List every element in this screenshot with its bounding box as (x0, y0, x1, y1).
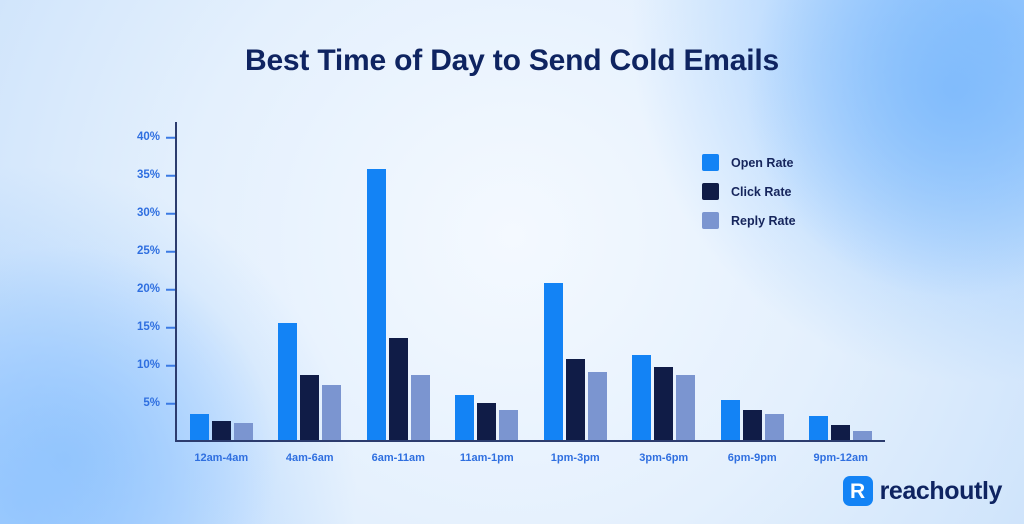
infographic-poster: Best Time of Day to Send Cold Emails 5%1… (0, 0, 1024, 524)
bar-group: 12am-4am (177, 122, 266, 440)
y-axis-tick: 30% (137, 208, 175, 220)
bar-reply-rate[interactable] (853, 431, 872, 440)
y-axis-tick-label: 20% (137, 284, 160, 296)
bar-click-rate[interactable] (300, 375, 319, 440)
bar-open-rate[interactable] (190, 414, 209, 440)
bar-group: 9pm-12am (797, 122, 886, 440)
y-axis-tick-label: 40% (137, 132, 160, 144)
x-axis-tick-label: 12am-4am (177, 452, 266, 464)
x-axis-tick-label: 6pm-9pm (708, 452, 797, 464)
bar-open-rate[interactable] (544, 283, 563, 440)
bar-open-rate[interactable] (632, 355, 651, 440)
x-axis-tick-label: 1pm-3pm (531, 452, 620, 464)
bar-reply-rate[interactable] (322, 385, 341, 440)
legend-item-open-rate[interactable]: Open Rate (702, 148, 796, 177)
chart-legend: Open RateClick RateReply Rate (702, 148, 796, 235)
x-axis-tick-label: 11am-1pm (443, 452, 532, 464)
bar-click-rate[interactable] (477, 403, 496, 440)
x-axis-tick-label: 3pm-6pm (620, 452, 709, 464)
y-axis-tick-label: 30% (137, 208, 160, 220)
bar-group: 1pm-3pm (531, 122, 620, 440)
y-axis-tick: 25% (137, 246, 175, 258)
y-axis-tick: 15% (137, 322, 175, 334)
brand-mark-icon: R (843, 476, 873, 506)
legend-label: Click Rate (731, 185, 791, 199)
bar-click-rate[interactable] (654, 367, 673, 440)
bar-reply-rate[interactable] (588, 372, 607, 440)
legend-label: Reply Rate (731, 214, 796, 228)
legend-item-click-rate[interactable]: Click Rate (702, 177, 796, 206)
legend-item-reply-rate[interactable]: Reply Rate (702, 206, 796, 235)
bar-reply-rate[interactable] (765, 414, 784, 440)
bar-click-rate[interactable] (831, 425, 850, 440)
bar-click-rate[interactable] (212, 421, 231, 440)
bar-group: 3pm-6pm (620, 122, 709, 440)
bar-click-rate[interactable] (743, 410, 762, 440)
brand-logo: R reachoutly (843, 476, 1002, 506)
y-axis-tick-mark (166, 136, 175, 138)
bar-reply-rate[interactable] (499, 410, 518, 440)
bar-open-rate[interactable] (809, 416, 828, 440)
bar-click-rate[interactable] (389, 338, 408, 440)
bar-open-rate[interactable] (278, 323, 297, 440)
bar-open-rate[interactable] (721, 400, 740, 440)
brand-name: reachoutly (880, 477, 1002, 506)
y-axis-tick-mark (166, 365, 175, 367)
x-axis-tick-label: 9pm-12am (797, 452, 886, 464)
bar-group: 6am-11am (354, 122, 443, 440)
bar-group: 4am-6am (266, 122, 355, 440)
y-axis-tick: 10% (137, 360, 175, 372)
y-axis-tick-mark (166, 403, 175, 405)
y-axis-tick-mark (166, 251, 175, 253)
y-axis-tick-label: 5% (143, 398, 160, 410)
bar-click-rate[interactable] (566, 359, 585, 440)
x-axis-line (175, 440, 885, 442)
y-axis-tick-mark (166, 327, 175, 329)
bar-reply-rate[interactable] (411, 375, 430, 440)
x-axis-tick-label: 6am-11am (354, 452, 443, 464)
y-axis-tick-mark (166, 212, 175, 214)
y-axis-tick: 5% (143, 398, 175, 410)
y-axis-tick-label: 15% (137, 322, 160, 334)
legend-swatch-icon (702, 154, 719, 171)
bar-open-rate[interactable] (455, 395, 474, 440)
bar-group: 11am-1pm (443, 122, 532, 440)
bar-reply-rate[interactable] (234, 423, 253, 440)
legend-label: Open Rate (731, 156, 794, 170)
y-axis-tick-label: 25% (137, 246, 160, 258)
legend-swatch-icon (702, 212, 719, 229)
y-axis-tick: 20% (137, 284, 175, 296)
y-axis-tick-label: 35% (137, 170, 160, 182)
y-axis-tick-mark (166, 174, 175, 176)
chart-title: Best Time of Day to Send Cold Emails (0, 44, 1024, 78)
legend-swatch-icon (702, 183, 719, 200)
bar-open-rate[interactable] (367, 169, 386, 440)
x-axis-tick-label: 4am-6am (266, 452, 355, 464)
y-axis-tick: 40% (137, 132, 175, 144)
bar-reply-rate[interactable] (676, 375, 695, 440)
y-axis-tick-mark (166, 289, 175, 291)
y-axis-tick: 35% (137, 170, 175, 182)
y-axis-tick-label: 10% (137, 360, 160, 372)
